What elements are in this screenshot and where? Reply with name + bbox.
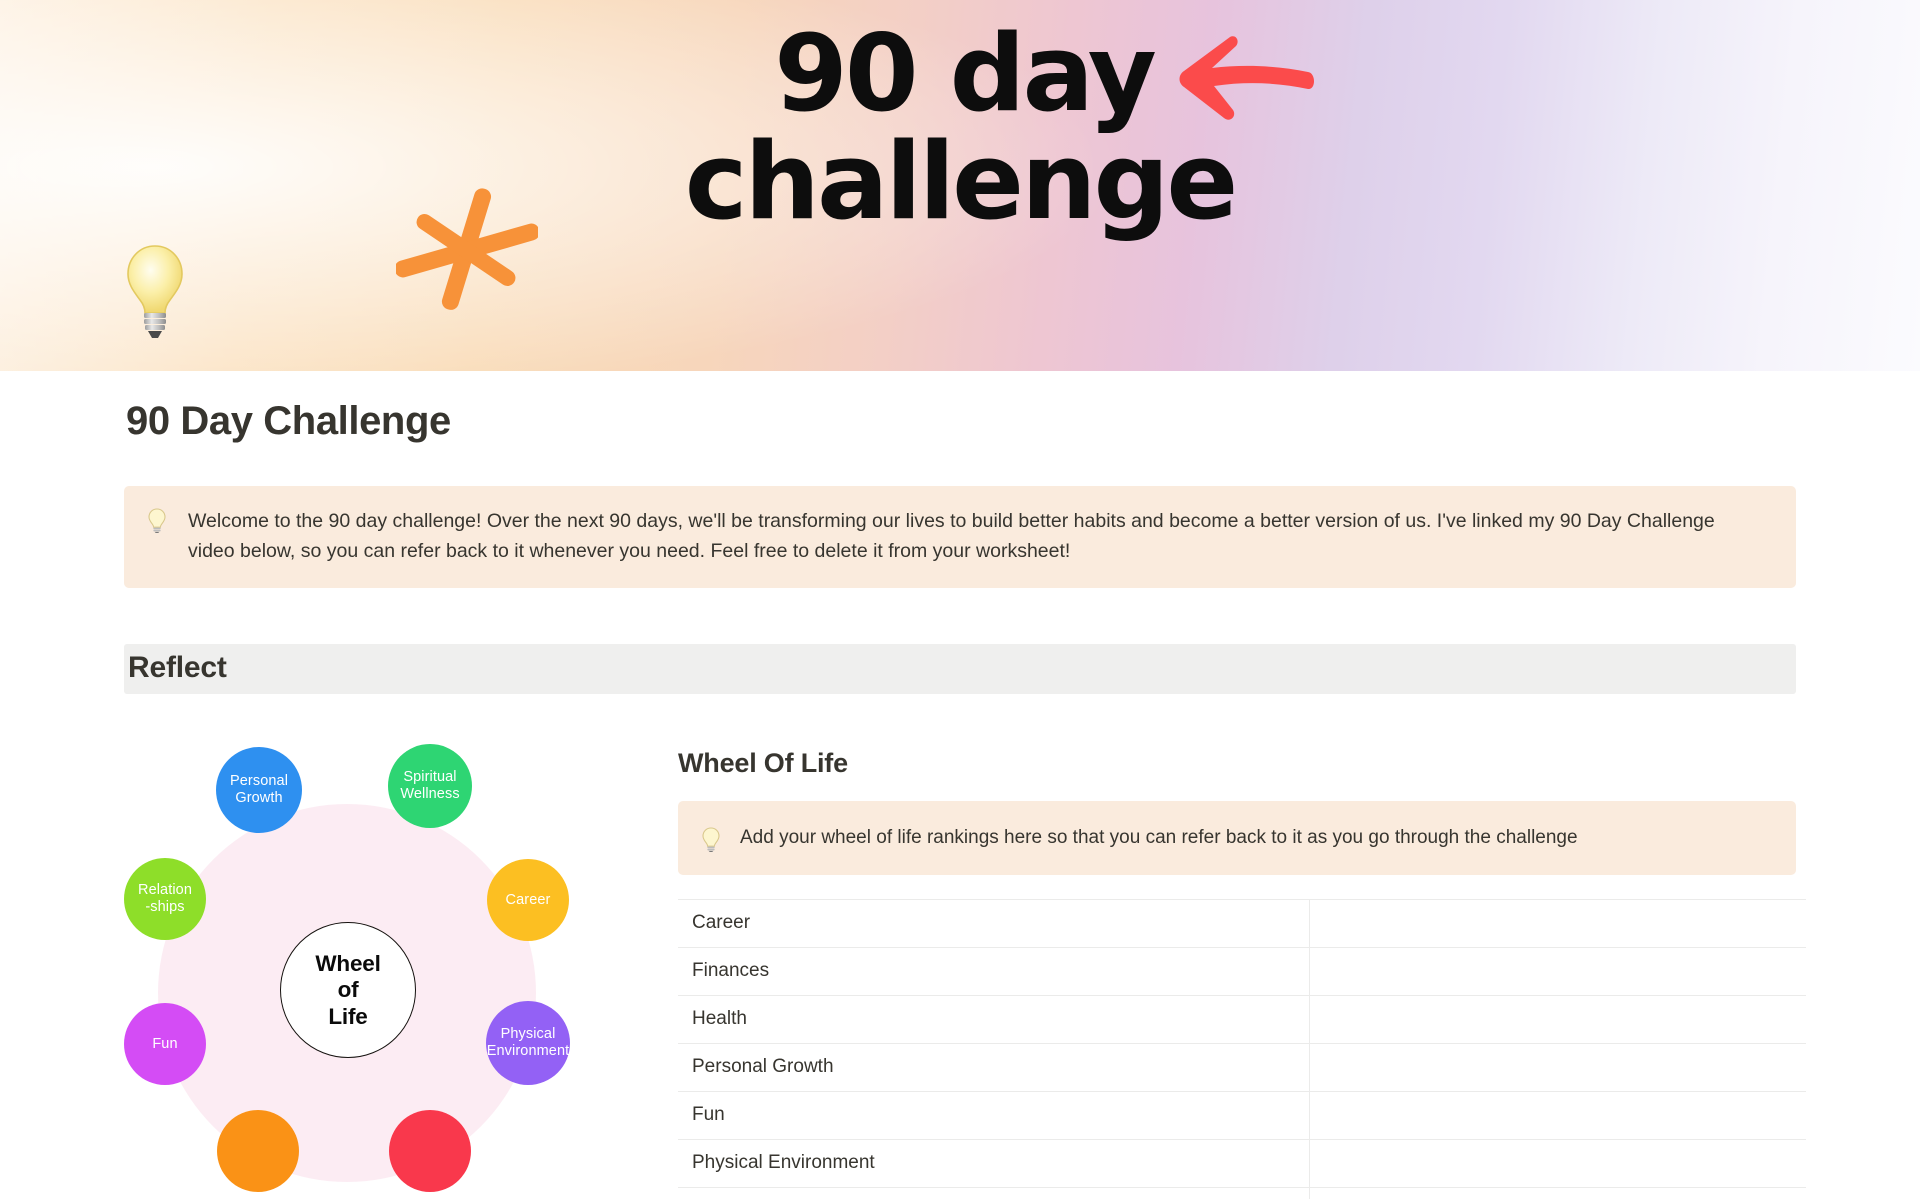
life-area-cell[interactable]: Fun xyxy=(678,1091,1310,1139)
page-body: 90 Day Challenge Welcome to the 90 day c… xyxy=(0,371,1920,1199)
wheel-of-life-callout[interactable]: Add your wheel of life rankings here so … xyxy=(678,801,1796,874)
wheel-hub-line-3: Life xyxy=(328,1004,367,1030)
ranking-cell[interactable] xyxy=(1310,947,1806,995)
wheel-node-label: Fun xyxy=(152,1036,177,1054)
wheel-node-relation--ships[interactable]: Relation -ships xyxy=(124,858,206,940)
cover-title-line-1: 90 day xyxy=(0,20,1920,128)
light-bulb-emoji-icon[interactable] xyxy=(124,243,186,339)
life-area-cell[interactable]: Relationships xyxy=(678,1187,1310,1199)
table-row[interactable]: Finances xyxy=(678,947,1806,995)
table-row[interactable]: Personal Growth xyxy=(678,1043,1806,1091)
table-row[interactable]: Physical Environment xyxy=(678,1139,1806,1187)
wheel-node-career[interactable]: Career xyxy=(487,859,569,941)
wheel-node-label: Personal Growth xyxy=(230,773,288,808)
wheel-of-life-title[interactable]: Wheel Of Life xyxy=(678,748,1796,779)
table-row[interactable]: Fun xyxy=(678,1091,1806,1139)
wheel-node-fun[interactable]: Fun xyxy=(124,1003,206,1085)
light-bulb-icon xyxy=(700,826,722,852)
ranking-cell[interactable] xyxy=(1310,1139,1806,1187)
section-heading-reflect[interactable]: Reflect xyxy=(124,644,1796,694)
reflect-columns: Wheel of Life Personal GrowthSpiritual W… xyxy=(124,724,1796,1199)
intro-callout-text: Welcome to the 90 day challenge! Over th… xyxy=(188,506,1748,566)
ranking-cell[interactable] xyxy=(1310,1091,1806,1139)
life-area-cell[interactable]: Career xyxy=(678,899,1310,947)
life-area-cell[interactable]: Personal Growth xyxy=(678,1043,1310,1091)
cover-title: 90 day challenge xyxy=(0,20,1920,236)
content-container: 90 Day Challenge Welcome to the 90 day c… xyxy=(124,371,1796,1199)
red-arrow-icon xyxy=(1168,28,1316,132)
wheel-node-spiritual-wellness[interactable]: Spiritual Wellness xyxy=(388,744,472,828)
wheel-node-personal-growth[interactable]: Personal Growth xyxy=(216,747,302,833)
ranking-cell[interactable] xyxy=(1310,899,1806,947)
table-row[interactable]: Relationships xyxy=(678,1187,1806,1199)
life-area-cell[interactable]: Physical Environment xyxy=(678,1139,1310,1187)
life-area-cell[interactable]: Finances xyxy=(678,947,1310,995)
table-row[interactable]: Career xyxy=(678,899,1806,947)
wheel-of-life-diagram-column: Wheel of Life Personal GrowthSpiritual W… xyxy=(124,724,664,1199)
intro-callout[interactable]: Welcome to the 90 day challenge! Over th… xyxy=(124,486,1796,588)
wheel-node-physical-environment[interactable]: Physical Environment xyxy=(486,1001,570,1085)
wheel-node-label: Spiritual Wellness xyxy=(400,769,459,804)
wheel-node-label: Physical Environment xyxy=(487,1026,570,1061)
wheel-node-hidden-6[interactable] xyxy=(217,1110,299,1192)
life-area-cell[interactable]: Health xyxy=(678,995,1310,1043)
wheel-node-label: Career xyxy=(506,892,551,910)
wheel-of-life-diagram[interactable]: Wheel of Life Personal GrowthSpiritual W… xyxy=(124,724,664,1199)
light-bulb-icon xyxy=(146,507,168,533)
ranking-cell[interactable] xyxy=(1310,1043,1806,1091)
table-row[interactable]: Health xyxy=(678,995,1806,1043)
wheel-hub: Wheel of Life xyxy=(280,922,416,1058)
ranking-cell[interactable] xyxy=(1310,995,1806,1043)
wheel-node-label: Relation -ships xyxy=(138,882,192,917)
wheel-of-life-table-column: Wheel Of Life Add your wheel of life ran… xyxy=(664,724,1796,1199)
cover-title-line-2: challenge xyxy=(0,128,1920,236)
page-cover-image[interactable]: 90 day challenge xyxy=(0,0,1920,371)
ranking-cell[interactable] xyxy=(1310,1187,1806,1199)
wheel-of-life-callout-text: Add your wheel of life rankings here so … xyxy=(740,823,1578,852)
wheel-of-life-rankings-table[interactable]: CareerFinancesHealthPersonal GrowthFunPh… xyxy=(678,899,1806,1199)
wheel-hub-line-1: Wheel xyxy=(315,951,380,977)
wheel-node-hidden-7[interactable] xyxy=(389,1110,471,1192)
page-title[interactable]: 90 Day Challenge xyxy=(126,399,1796,444)
wheel-hub-line-2: of xyxy=(338,977,359,1003)
